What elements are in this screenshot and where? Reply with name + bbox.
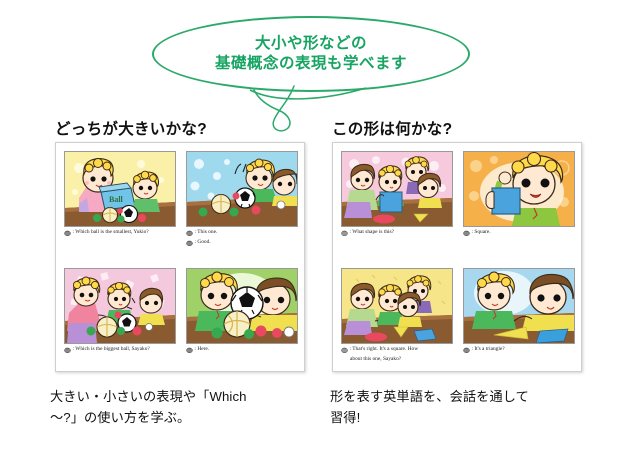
section-heading-right: この形は何かな? — [332, 117, 452, 139]
comic-illustration — [186, 151, 298, 227]
comic-illustration — [463, 268, 575, 344]
speaker-icon — [463, 230, 470, 240]
description-right: 形を表す英単語を、会話を通して習得! — [330, 386, 598, 428]
comic-illustration — [186, 268, 298, 344]
speaker-icon — [186, 347, 193, 357]
comic-caption: : Square. — [463, 229, 581, 239]
caption-text: : What shape is this? — [350, 229, 460, 237]
speaker-icon — [186, 230, 193, 240]
caption-text: : It's a triangle? — [472, 346, 582, 354]
svg-text:Ball: Ball — [109, 195, 124, 204]
comic-illustration — [341, 268, 453, 344]
speaker-icon — [64, 347, 71, 357]
speaker-icon — [341, 230, 348, 240]
comic-illustration — [64, 268, 176, 344]
comic-cell: : This one. : Good. — [186, 151, 298, 248]
comic-cell: Ball — [64, 151, 176, 248]
comic-caption: : Which is the biggest ball, Sayako? — [64, 346, 182, 356]
comic-illustration — [463, 151, 575, 227]
caption-text-continued: about this one, Sayako? — [341, 356, 459, 364]
caption-text: : Square. — [472, 229, 582, 237]
panel-card-right: : What shape is this? — [332, 142, 582, 372]
comic-illustration: Ball — [64, 151, 176, 227]
comic-cell: : That's right. It's a square. How about… — [341, 268, 453, 365]
comic-cell: : Here. — [186, 268, 298, 365]
caption-text-2: : Good. — [195, 239, 305, 247]
comic-cell: : Which is the biggest ball, Sayako? — [64, 268, 176, 365]
speaker-icon — [64, 230, 71, 240]
caption-text: : This one. — [195, 229, 305, 237]
comic-illustration-wrap: : Square. — [463, 151, 575, 248]
comic-cell: : What shape is this? — [341, 151, 453, 248]
speaker-icon — [341, 347, 348, 357]
caption-text: : Which ball is the smallest, Yukio? — [73, 229, 183, 237]
speech-bubble-body: 大小や形などの 基礎概念の表現も学べます — [152, 16, 470, 92]
caption-text: : Here. — [195, 346, 305, 354]
panel-card-left: Ball — [55, 142, 305, 372]
speaker-icon — [463, 347, 470, 357]
speech-bubble: 大小や形などの 基礎概念の表現も学べます — [152, 16, 472, 96]
comic-caption: : That's right. It's a square. How about… — [341, 346, 459, 364]
panel-grid-right: : What shape is this? — [341, 151, 575, 365]
section-heading-left: どっちが大きいかな? — [55, 117, 207, 139]
comic-cell: : It's a triangle? — [463, 268, 575, 365]
comic-caption: : Here. — [186, 346, 304, 356]
comic-caption: : Which ball is the smallest, Yukio? — [64, 229, 182, 239]
bubble-line-2: 基礎概念の表現も学べます — [215, 54, 407, 74]
caption-text: : That's right. It's a square. How — [350, 346, 460, 354]
bubble-line-1: 大小や形などの — [255, 34, 367, 54]
caption-text: : Which is the biggest ball, Sayako? — [73, 346, 183, 354]
comic-caption: : It's a triangle? — [463, 346, 581, 356]
comic-illustration — [341, 151, 453, 227]
panel-grid-left: Ball — [64, 151, 298, 365]
speaker-icon — [186, 240, 193, 250]
comic-caption: : This one. : Good. — [186, 229, 304, 249]
description-left: 大きい・小さいの表現や「Which～?」の使い方を学ぶ。 — [50, 386, 318, 428]
comic-caption: : What shape is this? — [341, 229, 459, 239]
